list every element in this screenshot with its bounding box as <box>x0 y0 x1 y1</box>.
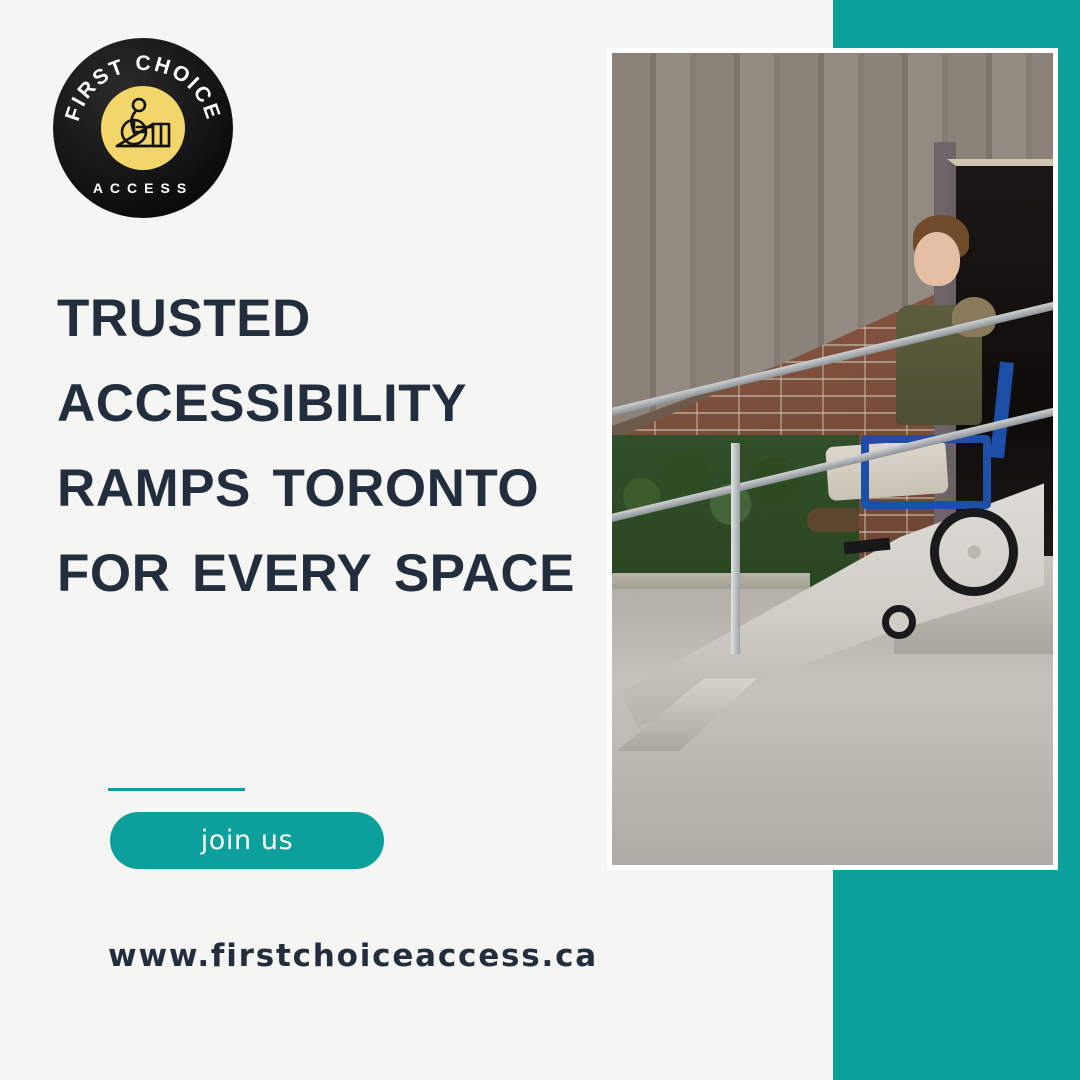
wheelchair-ramp-icon <box>109 96 177 160</box>
hero-photo <box>612 53 1053 865</box>
photo-person-shoe <box>807 508 859 532</box>
hero-photo-frame <box>607 48 1058 870</box>
teal-accent-block-bottom <box>833 870 1080 1080</box>
brand-logo[interactable]: FIRST CHOICE ACCESS <box>53 38 233 218</box>
logo-bottom-text: ACCESS <box>53 180 233 196</box>
website-url[interactable]: www.firstchoiceaccess.ca <box>108 938 598 974</box>
photo-person-face <box>914 232 960 286</box>
join-us-button[interactable]: join us <box>110 812 384 869</box>
photo-handrail-post <box>731 443 740 654</box>
page-title: Trusted Accessibility Ramps Toronto for … <box>57 268 587 608</box>
poster-canvas: FIRST CHOICE ACCESS Trusted Accessibilit… <box>0 0 1080 1080</box>
photo-wheelchair-rear-wheel <box>930 508 1018 596</box>
cta-divider <box>108 788 245 791</box>
